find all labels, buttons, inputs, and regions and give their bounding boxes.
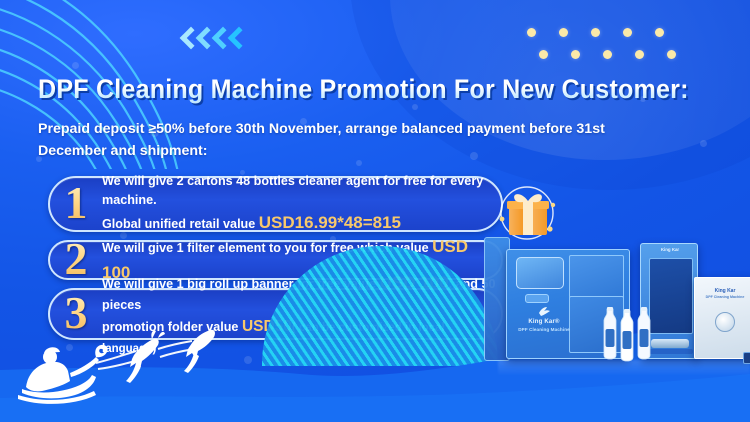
grid-dot (539, 50, 548, 59)
offer-value: USD16.99*48=815 (259, 213, 401, 232)
chevron-left-icon (228, 28, 243, 54)
machine-tall-brand: King Kar (641, 247, 699, 252)
machine-box-brand-block: King Kar DPF Cleaning Machine (695, 288, 750, 299)
machine-box-brand-name: King Kar (695, 288, 750, 294)
gift-box-icon (497, 183, 559, 241)
grid-dot (571, 50, 580, 59)
machine-model-name: DPF Cleaning Machine (513, 327, 575, 332)
grid-dot (667, 50, 676, 59)
offer-line-1a: We will give 2 cartons 48 bottles cleane… (102, 172, 501, 210)
machine-box-foot (743, 352, 750, 364)
grid-dot (623, 28, 632, 37)
offer-number-1: 1 (50, 180, 102, 226)
grid-dot (559, 28, 568, 37)
bubble-dot (700, 140, 707, 147)
dot-grid-decoration (527, 28, 676, 59)
offer-line-1b: Global unified retail value USD16.99*48=… (102, 210, 501, 236)
grid-dot (527, 28, 536, 37)
machine-brand-block: King Kar® DPF Cleaning Machine (513, 306, 575, 332)
offer-number-2: 2 (50, 236, 102, 282)
cleaner-bottles-group (598, 305, 660, 367)
bubble-dot (72, 62, 79, 69)
offer-prefix: Global unified retail value (102, 217, 259, 231)
santa-sleigh-icon (8, 329, 218, 404)
machine-door-upper (569, 255, 624, 300)
machine-box-gauge (715, 312, 735, 332)
offer-text-1: We will give 2 cartons 48 bottles cleane… (102, 172, 501, 236)
product-machine-group: King Kar® DPF Cleaning Machine King Kar … (498, 243, 750, 371)
chevron-left-icon (180, 28, 195, 54)
offer-row-1: 1 We will give 2 cartons 48 bottles clea… (48, 176, 503, 232)
grid-dot (655, 28, 664, 37)
bird-logo-icon (538, 306, 551, 317)
page-subtitle: Prepaid deposit ≥50% before 30th Novembe… (38, 118, 638, 162)
machine-screen (516, 257, 564, 289)
machine-box-unit: King Kar DPF Cleaning Machine (694, 277, 750, 359)
page-title: DPF Cleaning Machine Promotion For New C… (38, 74, 689, 105)
chevron-group (180, 28, 243, 54)
machine-brand-name: King Kar® (513, 319, 575, 325)
machine-box-model-name: DPF Cleaning Machine (695, 295, 750, 299)
promotional-banner: DPF Cleaning Machine Promotion For New C… (0, 0, 750, 422)
machine-slot (525, 294, 549, 303)
grid-dot (603, 50, 612, 59)
chevron-left-icon (212, 28, 227, 54)
chevron-left-icon (196, 28, 211, 54)
grid-dot (635, 50, 644, 59)
grid-dot (591, 28, 600, 37)
